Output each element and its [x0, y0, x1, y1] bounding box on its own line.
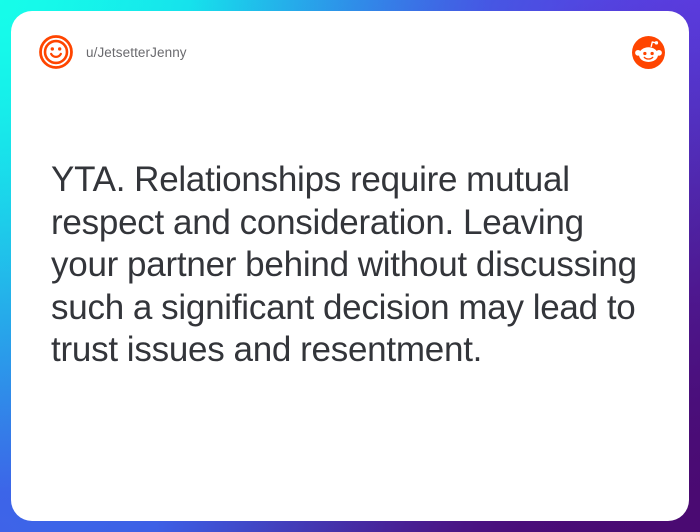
reddit-comment-card: u/JetsetterJenny YTA. Relationships requ… [11, 11, 689, 521]
author-block[interactable]: u/JetsetterJenny [38, 34, 632, 70]
card-header: u/JetsetterJenny [11, 11, 689, 93]
comment-text: YTA. Relationships require mutual respec… [51, 159, 655, 372]
author-username: u/JetsetterJenny [86, 45, 187, 60]
reddit-snoo-logo-icon[interactable] [632, 36, 665, 69]
smiley-face-avatar-icon [38, 34, 74, 70]
screenshot-root: u/JetsetterJenny YTA. Relationships requ… [0, 0, 700, 532]
